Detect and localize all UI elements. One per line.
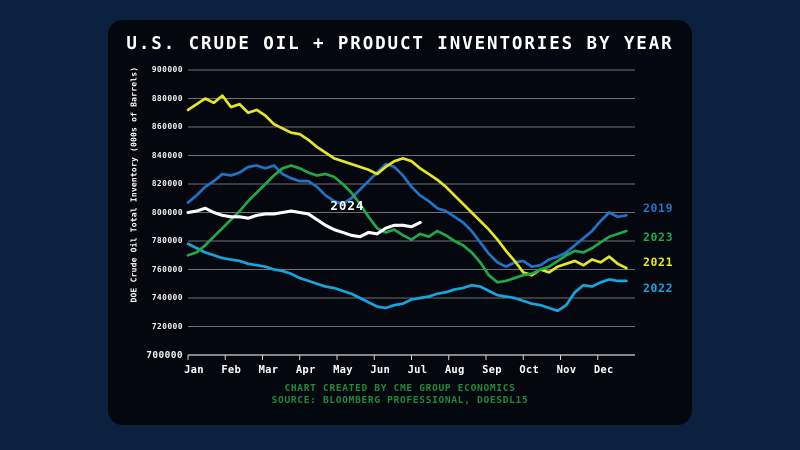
- y-axis-tick-label: 720000: [131, 322, 183, 331]
- y-axis-tick-label: 800000: [131, 208, 183, 217]
- x-axis-tick-label: Mar: [249, 364, 289, 376]
- x-axis-tick-label: Apr: [286, 364, 326, 376]
- y-axis-tick-label: 900000: [131, 65, 183, 74]
- series-label-2024: 2024: [330, 198, 364, 213]
- legend-item-2023: 2023: [643, 230, 673, 244]
- y-axis-tick-label: 840000: [131, 151, 183, 160]
- legend-item-2021: 2021: [643, 255, 673, 269]
- footer-line-1: CHART CREATED BY CME GROUP ECONOMICS: [108, 383, 692, 395]
- x-axis-tick-label: Jun: [360, 364, 400, 376]
- x-axis-tick-label: May: [323, 364, 363, 376]
- x-axis-tick-label: Oct: [509, 364, 549, 376]
- x-axis-tick-label: Nov: [547, 364, 587, 376]
- x-axis-tick-label: Jan: [174, 364, 214, 376]
- y-axis-tick-label: 760000: [131, 265, 183, 274]
- y-axis-tick-label: 820000: [131, 179, 183, 188]
- chart-panel: U.S. CRUDE OIL + PRODUCT INVENTORIES BY …: [108, 20, 692, 425]
- chart-root: U.S. CRUDE OIL + PRODUCT INVENTORIES BY …: [0, 0, 800, 450]
- series-line-2021: [188, 96, 626, 276]
- x-axis-tick-label: Dec: [584, 364, 624, 376]
- x-axis-tick-label: Sep: [472, 364, 512, 376]
- footer-line-2: SOURCE: BLOOMBERG PROFESSIONAL, DOESDL15: [108, 395, 692, 407]
- y-axis-tick-label: 700000: [126, 350, 183, 361]
- y-axis-tick-label: 860000: [131, 122, 183, 131]
- y-axis-tick-label: 740000: [131, 293, 183, 302]
- x-axis-tick-label: Feb: [211, 364, 251, 376]
- y-axis-tick-label: 780000: [131, 236, 183, 245]
- series-lines: [188, 96, 626, 311]
- legend-item-2019: 2019: [643, 201, 673, 215]
- y-axis-tick-label: 880000: [131, 94, 183, 103]
- footer-credit: CHART CREATED BY CME GROUP ECONOMICS SOU…: [108, 383, 692, 407]
- x-axis-ticks: [188, 355, 598, 360]
- legend-item-2022: 2022: [643, 281, 673, 295]
- x-axis-tick-label: Aug: [435, 364, 475, 376]
- gridlines: [188, 70, 635, 355]
- x-axis-tick-label: Jul: [398, 364, 438, 376]
